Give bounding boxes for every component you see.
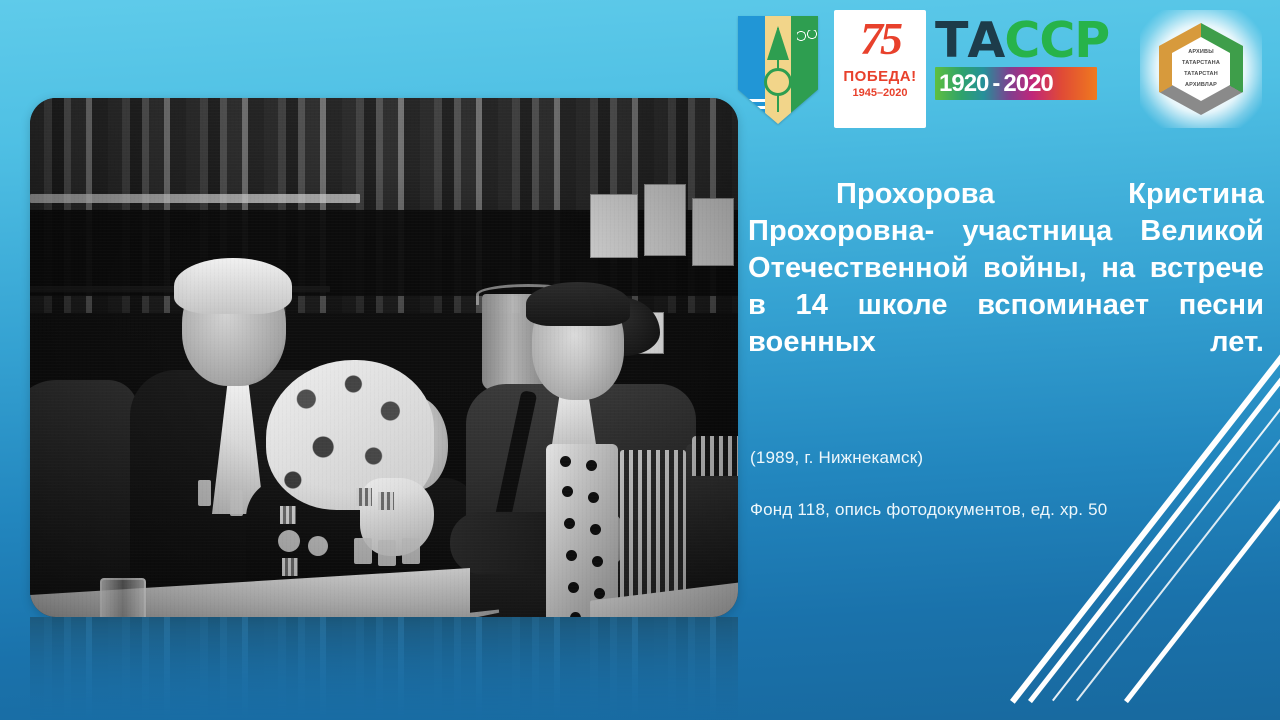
medal [278,530,300,552]
diagonal-line-medium [1124,361,1280,703]
tassr-logo: ТАССР 1920-2020 [935,16,1103,112]
man-medal [198,480,211,506]
shelf-edge [30,194,360,203]
man-hair [174,258,292,314]
medal-ribbon [280,506,296,524]
medal [402,538,420,564]
tassr-year-bar: 1920-2020 [935,67,1097,100]
tassr-ta: ТА [935,12,1004,69]
photo-image [30,98,738,617]
man-medal [230,490,243,516]
reflection-overlay [30,617,738,720]
wall-paper [692,198,734,266]
logo-row: 75 ПОБЕДА! 1945–2020 ТАССР 1920-2020 АРХ… [730,4,1278,130]
hexagon-icon: АРХИВЫ ТАТАРСТАНА ТАТАРСТАН АРХИВЛАР [1159,23,1243,115]
victory-word: ПОБЕДА! [843,68,916,85]
photo-scene [30,98,738,617]
tassr-dash: - [988,70,999,98]
medal-ribbon [378,492,394,510]
nizhnekamsk-coat-of-arms-icon [738,16,818,124]
medal-ribbon [282,558,298,576]
drinking-glass [100,578,146,617]
tassr-wordmark: ТАССР [935,16,1103,65]
accordion-keyboard [546,444,618,617]
tassr-year-to: 2020 [999,70,1052,98]
accordion-bellows [692,436,738,476]
tassr-years: 1920 [935,70,988,98]
caption-place: (1989, г. Нижнекамск) [750,448,1266,468]
slide: 75 ПОБЕДА! 1945–2020 ТАССР 1920-2020 АРХ… [0,0,1280,720]
medal [354,538,372,564]
archives-line3: ТАТАРСТАН [1184,71,1218,78]
medal-ribbon [356,488,372,506]
medal [308,536,328,556]
victory-number: 75 [860,16,900,62]
victory-years: 1945–2020 [852,87,907,99]
medal [378,540,396,566]
archive-photo [30,98,738,617]
player-hair [526,282,630,326]
archives-line4: АРХИВЛАР [1185,82,1217,89]
archives-line2: ТАТАРСТАНА [1182,60,1220,67]
tassr-ssr: ССР [1004,12,1109,69]
photo-reflection [30,617,738,720]
tatarstan-archives-logo: АРХИВЫ ТАТАРСТАНА ТАТАРСТАН АРХИВЛАР [1140,10,1262,128]
slide-heading: Прохорова Кристина Прохоровна- участница… [748,176,1264,399]
caption-archive-reference: Фонд 118, опись фотодокументов, ед. хр. … [750,500,1270,520]
archives-line1: АРХИВЫ [1188,49,1214,56]
wall-paper [590,194,638,258]
victory-75-logo: 75 ПОБЕДА! 1945–2020 [834,10,926,128]
wall-paper [644,184,686,256]
